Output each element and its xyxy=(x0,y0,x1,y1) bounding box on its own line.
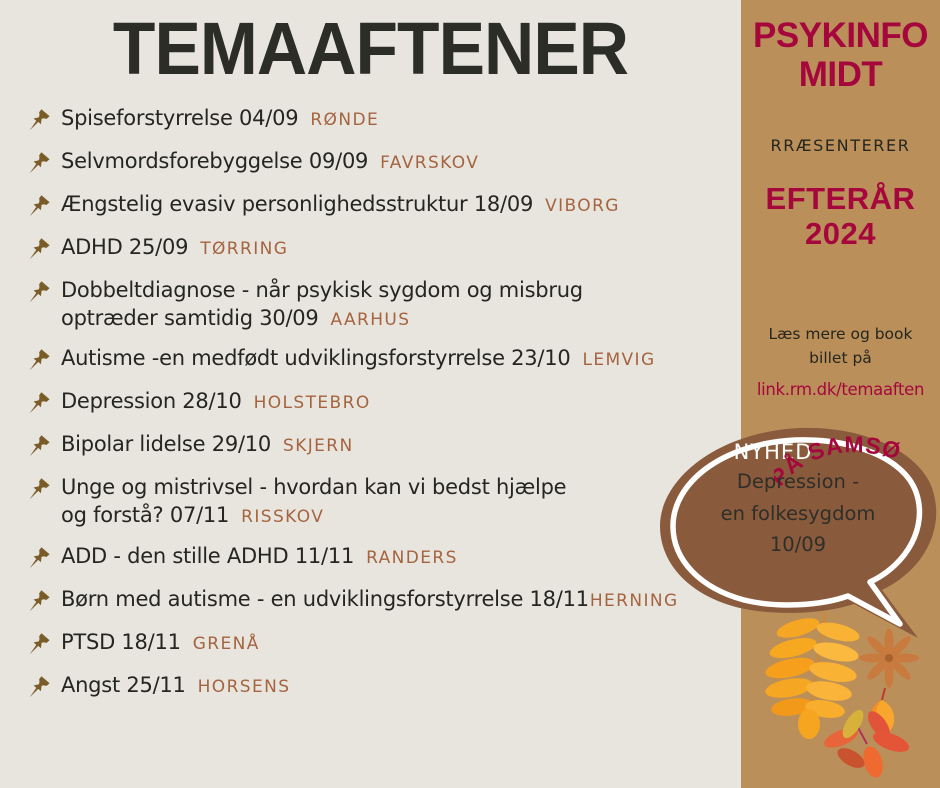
pushpin-icon xyxy=(26,279,52,305)
page-title: TEMAAFTENER xyxy=(22,6,719,91)
pushpin-icon xyxy=(26,236,52,262)
event-title: Dobbeltdiagnose - når psykisk sygdom og … xyxy=(61,278,583,302)
brand-line-1: PSYKINFO xyxy=(753,16,928,55)
event-row: Autisme -en medfødt udviklingsforstyrrel… xyxy=(26,345,766,375)
event-row: ADD - den stille ADHD 11/11RANDERS xyxy=(26,543,766,573)
presents-label: RRÆSENTERER xyxy=(741,136,940,155)
pushpin-glyph xyxy=(26,476,52,502)
pushpin-icon xyxy=(26,150,52,176)
season-label: EFTERÅR 2024 xyxy=(741,182,940,251)
event-title: Unge og mistrivsel - hvordan kan vi beds… xyxy=(61,475,566,499)
event-city: HORSENS xyxy=(198,677,291,697)
event-row: Spiseforstyrrelse 04/09RØNDE xyxy=(26,105,766,135)
sidebar-panel: PSYKINFO MIDT RRÆSENTERER EFTERÅR 2024 L… xyxy=(741,0,940,788)
event-city: LEMVIG xyxy=(582,350,655,370)
event-city: RANDERS xyxy=(366,548,458,568)
brand-title: PSYKINFO MIDT xyxy=(741,18,940,92)
season-year: 2024 xyxy=(741,217,940,252)
pushpin-glyph xyxy=(26,390,52,416)
brand-line-2: MIDT xyxy=(741,57,940,92)
event-title-line-2: optræder samtidig 30/09AARHUS xyxy=(61,305,583,333)
event-row: ADHD 25/09TØRRING xyxy=(26,234,766,264)
event-title: Bipolar lidelse 29/10 xyxy=(61,432,271,456)
event-title-line-2: og forstå? 07/11RISSKOV xyxy=(61,502,566,530)
event-text: PTSD 18/11GRENÅ xyxy=(61,629,260,657)
pushpin-glyph xyxy=(26,545,52,571)
event-city: RISSKOV xyxy=(241,507,324,527)
event-text: Bipolar lidelse 29/10SKJERN xyxy=(61,431,354,459)
event-row: Angst 25/11HORSENS xyxy=(26,672,766,702)
event-text: Depression 28/10HOLSTEBRO xyxy=(61,388,371,416)
event-title: Selvmordsforebyggelse 09/09 xyxy=(61,149,368,173)
event-title: Angst 25/11 xyxy=(61,673,186,697)
event-city: VIBORG xyxy=(545,196,620,216)
event-city: HOLSTEBRO xyxy=(254,393,371,413)
pushpin-icon xyxy=(26,107,52,133)
event-title: ADD - den stille ADHD 11/11 xyxy=(61,544,354,568)
news-badge: NYHED xyxy=(708,440,838,464)
booking-line-2: billet på xyxy=(747,346,934,370)
pushpin-glyph xyxy=(26,674,52,700)
news-speech-bubble: NYHED PÅ SAMSØ Depression - en folkesygd… xyxy=(656,424,940,656)
event-text: ADD - den stille ADHD 11/11RANDERS xyxy=(61,543,458,571)
event-text: Angst 25/11HORSENS xyxy=(61,672,290,700)
event-text: Ængstelig evasiv personlighedsstruktur 1… xyxy=(61,191,620,219)
event-title: Børn med autisme - en udviklingsforstyrr… xyxy=(61,587,589,611)
season-text: EFTERÅR xyxy=(766,181,916,216)
event-title: ADHD 25/09 xyxy=(61,235,188,259)
event-text: ADHD 25/09TØRRING xyxy=(61,234,288,262)
pushpin-glyph xyxy=(26,150,52,176)
event-city: TØRRING xyxy=(200,239,288,259)
event-text: Unge og mistrivsel - hvordan kan vi beds… xyxy=(61,474,566,529)
pushpin-icon xyxy=(26,347,52,373)
pushpin-icon xyxy=(26,193,52,219)
pushpin-glyph xyxy=(26,588,52,614)
booking-instruction: Læs mere og book billet på xyxy=(747,322,934,370)
event-title-line-2-text: og forstå? 07/11 xyxy=(61,503,229,527)
booking-line-1: Læs mere og book xyxy=(747,322,934,346)
event-text: Dobbeltdiagnose - når psykisk sygdom og … xyxy=(61,277,583,332)
poster-canvas: PSYKINFO MIDT RRÆSENTERER EFTERÅR 2024 L… xyxy=(0,0,940,788)
event-title: Autisme -en medfødt udviklingsforstyrrel… xyxy=(61,346,570,370)
event-text: Spiseforstyrrelse 04/09RØNDE xyxy=(61,105,379,133)
pushpin-glyph xyxy=(26,107,52,133)
pushpin-icon xyxy=(26,545,52,571)
event-row: Depression 28/10HOLSTEBRO xyxy=(26,388,766,418)
pushpin-icon xyxy=(26,433,52,459)
pushpin-glyph xyxy=(26,279,52,305)
event-row: Unge og mistrivsel - hvordan kan vi beds… xyxy=(26,474,766,529)
pushpin-glyph xyxy=(26,236,52,262)
pushpin-icon xyxy=(26,631,52,657)
event-title: Spiseforstyrrelse 04/09 xyxy=(61,106,298,130)
event-title: Ængstelig evasiv personlighedsstruktur 1… xyxy=(61,192,533,216)
event-city: GRENÅ xyxy=(193,634,260,654)
event-row: Dobbeltdiagnose - når psykisk sygdom og … xyxy=(26,277,766,332)
event-list: Spiseforstyrrelse 04/09RØNDESelvmordsfor… xyxy=(26,105,766,715)
event-title-line-2-text: optræder samtidig 30/09 xyxy=(61,306,319,330)
event-row: Bipolar lidelse 29/10SKJERN xyxy=(26,431,766,461)
pushpin-glyph xyxy=(26,347,52,373)
pushpin-glyph xyxy=(26,631,52,657)
pushpin-glyph xyxy=(26,193,52,219)
event-city: AARHUS xyxy=(331,310,411,330)
event-text: Selvmordsforebyggelse 09/09FAVRSKOV xyxy=(61,148,479,176)
event-text: Børn med autisme - en udviklingsforstyrr… xyxy=(61,586,679,614)
event-title: Depression 28/10 xyxy=(61,389,242,413)
event-row: Ængstelig evasiv personlighedsstruktur 1… xyxy=(26,191,766,221)
event-row: Selvmordsforebyggelse 09/09FAVRSKOV xyxy=(26,148,766,178)
event-row: Børn med autisme - en udviklingsforstyrr… xyxy=(26,586,766,616)
pushpin-glyph xyxy=(26,433,52,459)
pushpin-icon xyxy=(26,674,52,700)
booking-link[interactable]: link.rm.dk/temaaften xyxy=(741,380,940,399)
pushpin-icon xyxy=(26,476,52,502)
event-row: PTSD 18/11GRENÅ xyxy=(26,629,766,659)
event-title: PTSD 18/11 xyxy=(61,630,181,654)
event-text: Autisme -en medfødt udviklingsforstyrrel… xyxy=(61,345,656,373)
event-city: SKJERN xyxy=(283,436,354,456)
pushpin-icon xyxy=(26,390,52,416)
event-city: RØNDE xyxy=(310,110,379,130)
event-city: FAVRSKOV xyxy=(380,153,479,173)
pushpin-icon xyxy=(26,588,52,614)
